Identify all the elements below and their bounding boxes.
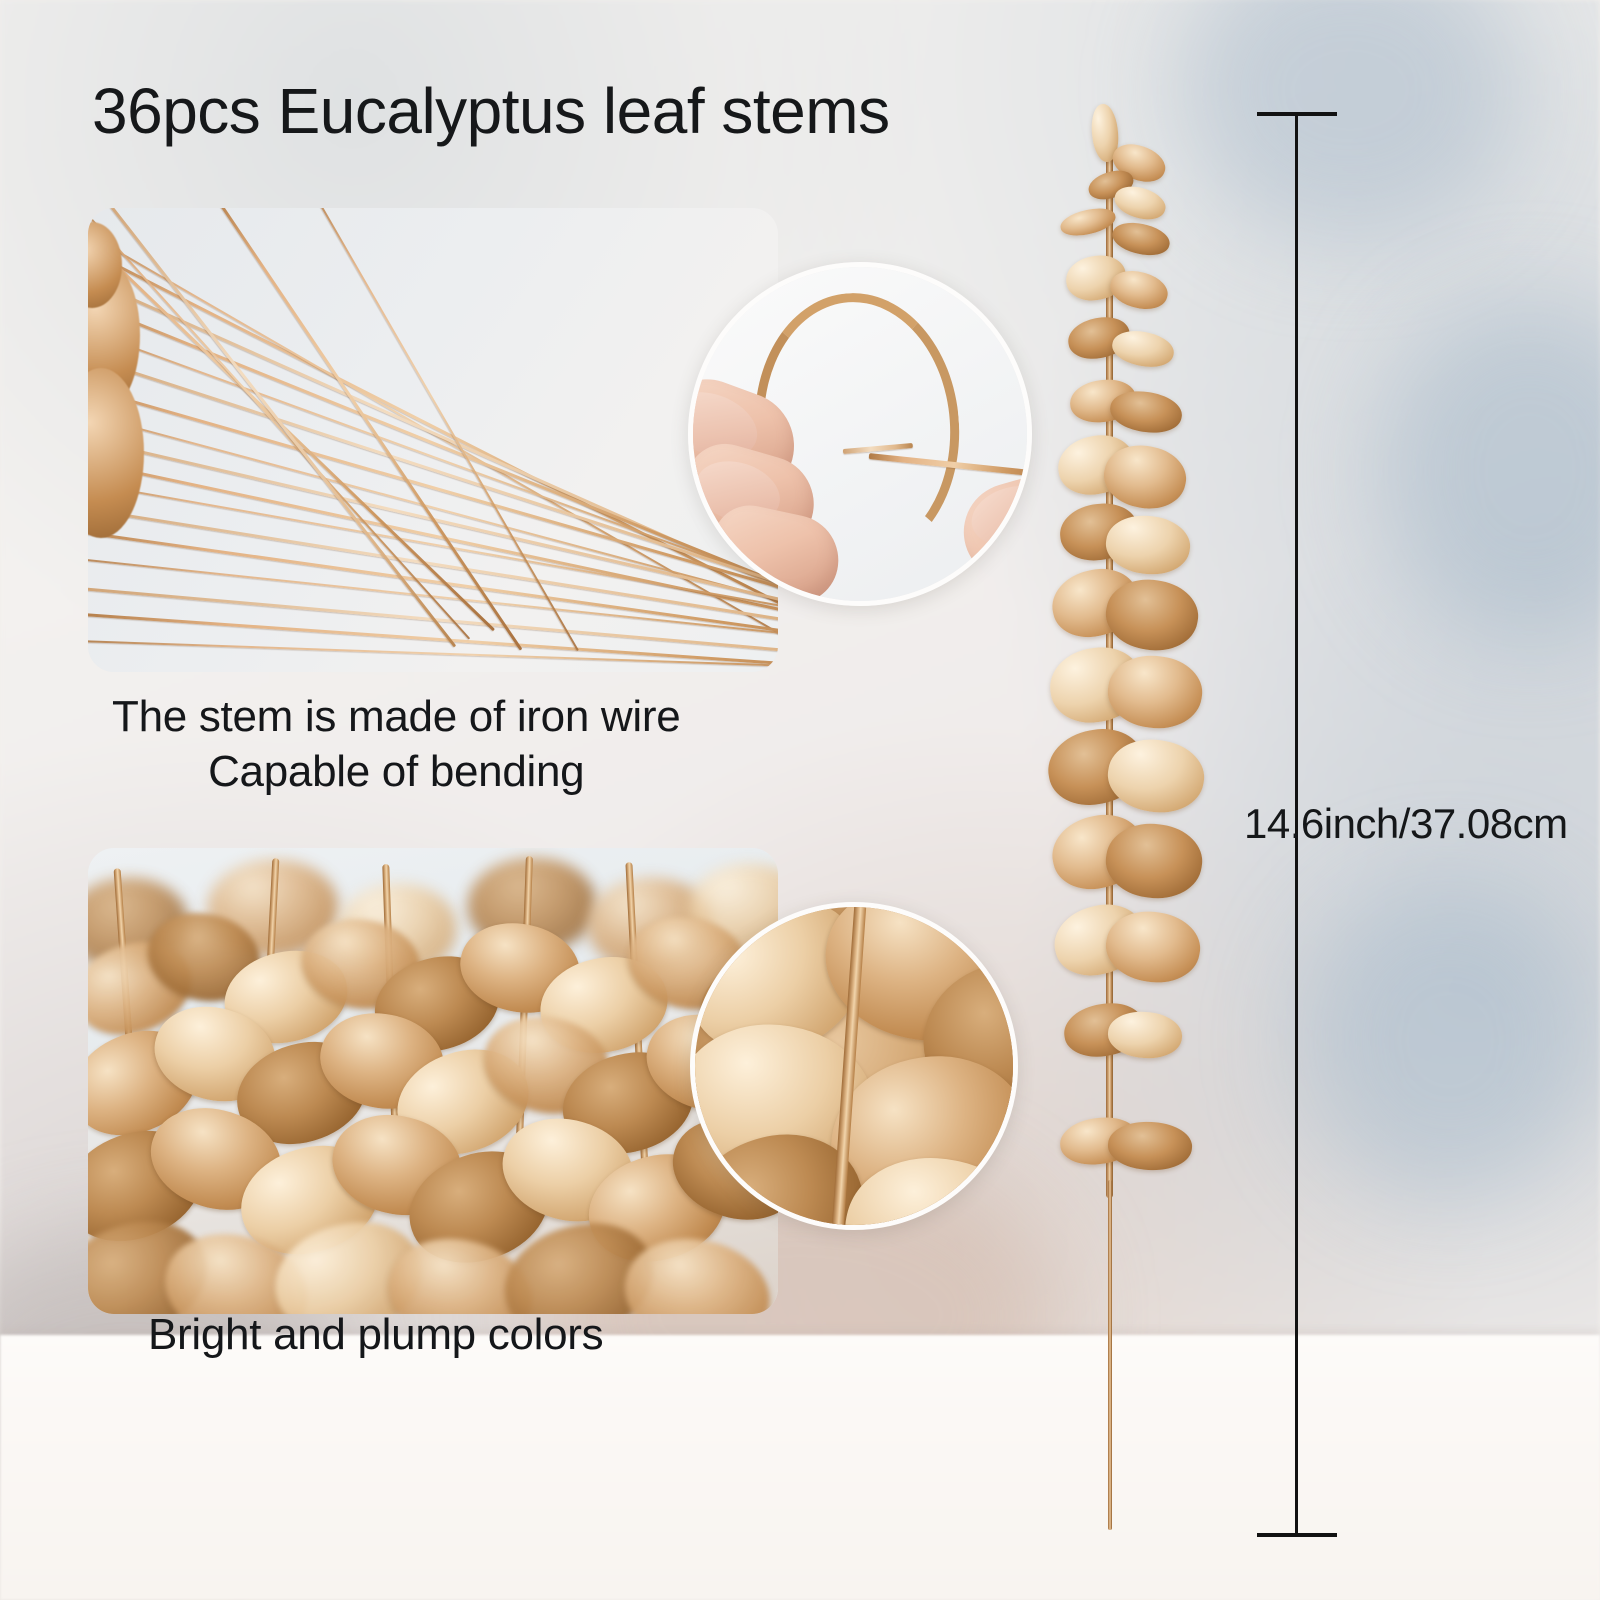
wire-stems-photo: [88, 208, 778, 672]
leaf-texture-closeup: [690, 902, 1018, 1230]
table-surface: [0, 1335, 1600, 1600]
feature-caption-wire: The stem is made of iron wire Capable of…: [112, 690, 680, 799]
feature-caption-colors: Bright and plump colors: [148, 1308, 603, 1363]
feature-caption-wire-line2: Capable of bending: [112, 745, 680, 800]
product-stem: [1030, 100, 1250, 1540]
dimension-cap-bottom: [1257, 1533, 1337, 1537]
feature-caption-wire-line1: The stem is made of iron wire: [112, 692, 680, 741]
page-title: 36pcs Eucalyptus leaf stems: [92, 78, 890, 145]
bending-wire-closeup: [688, 262, 1032, 606]
gold-leaves-photo: [88, 848, 778, 1314]
infographic-canvas: 36pcs Eucalyptus leaf stems: [0, 0, 1600, 1600]
dimension-label: 14.6inch/37.08cm: [1244, 800, 1568, 848]
background-blur-blob: [1300, 880, 1600, 1200]
